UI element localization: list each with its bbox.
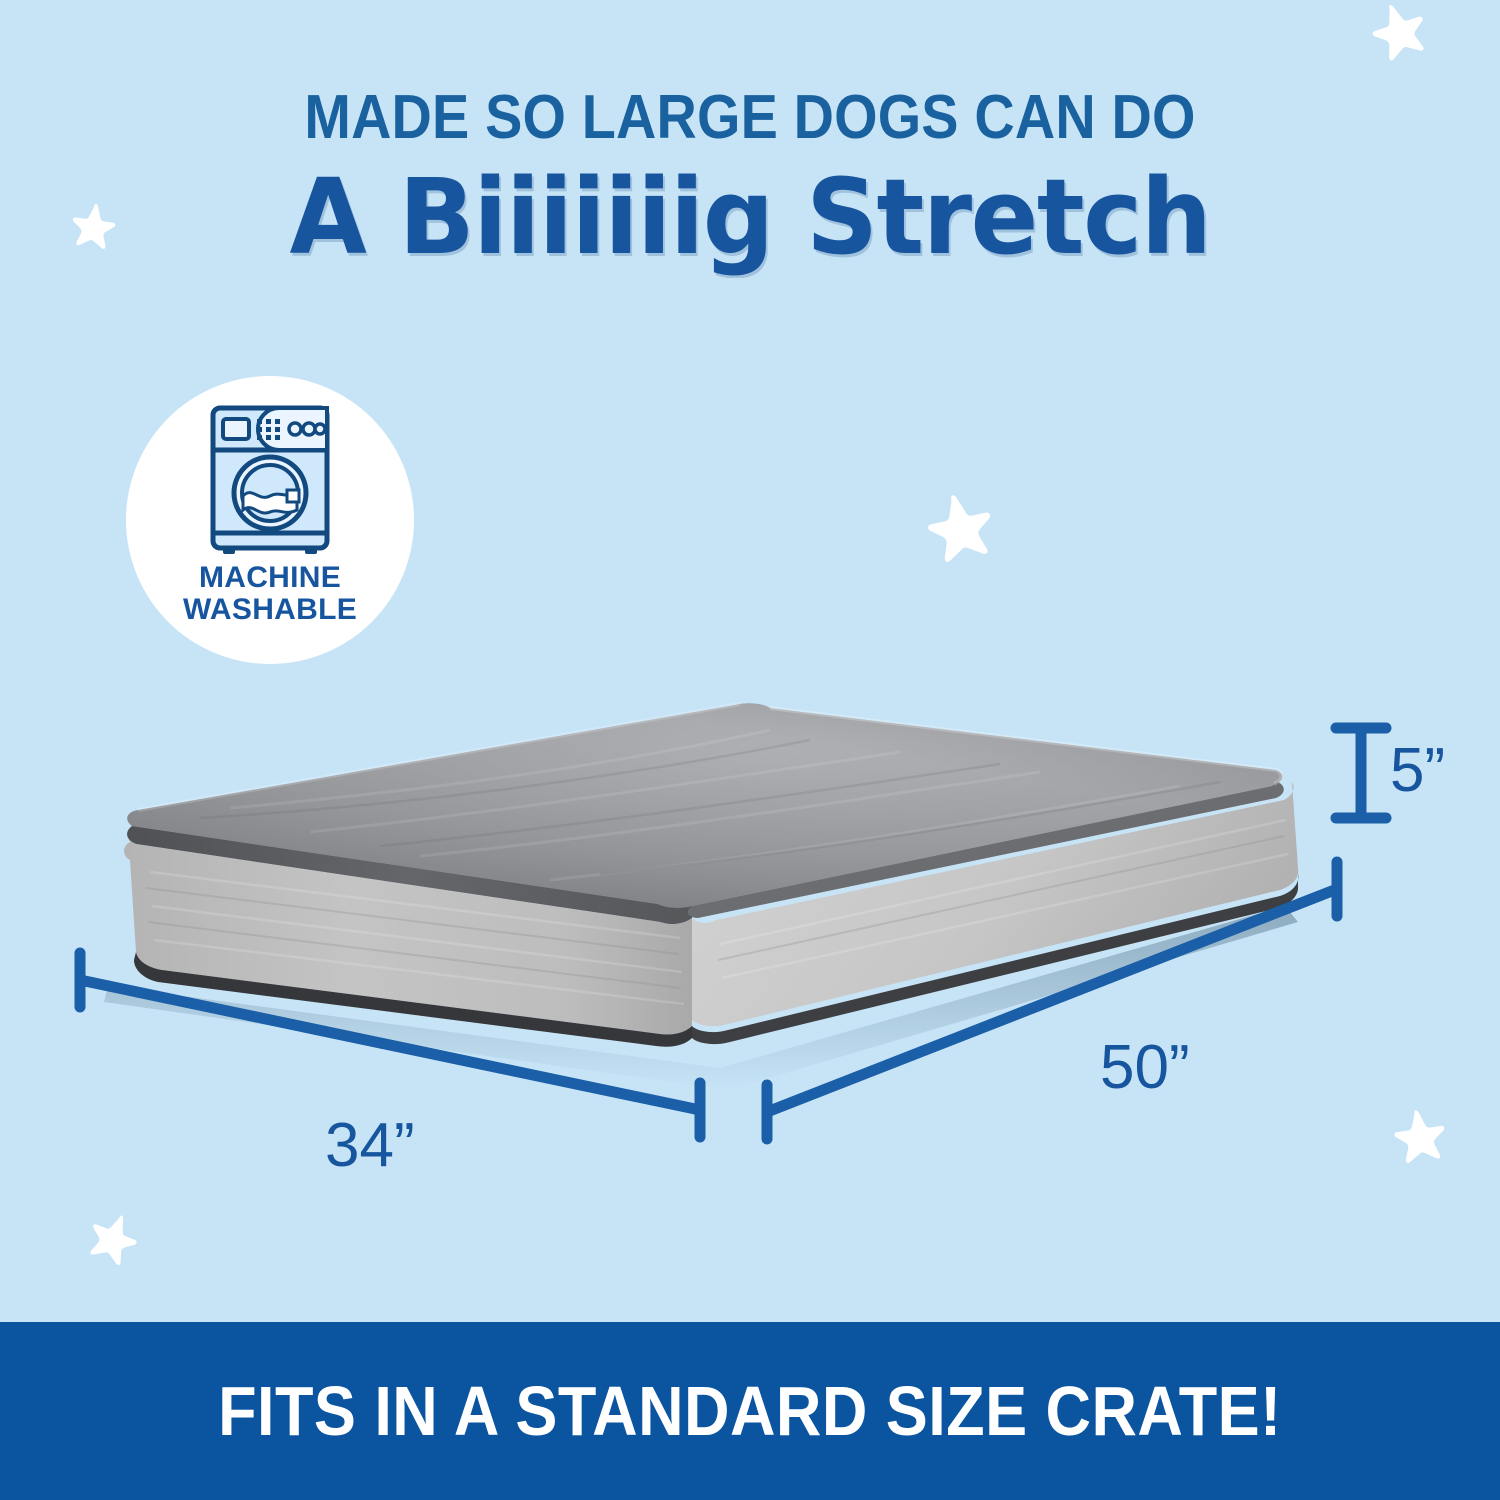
dimension-label-height: 5” [1390,735,1445,806]
headline-block: MADE SO LARGE DOGS CAN DO A Biiiiiiig St… [0,86,1500,269]
product-infographic: MADE SO LARGE DOGS CAN DO A Biiiiiiig St… [0,0,1500,1500]
bottom-banner: FITS IN A STANDARD SIZE CRATE! [0,1322,1500,1500]
star-center [919,486,1000,567]
star-top-right [1363,0,1434,65]
machine-washable-badge: MACHINE WASHABLE [126,376,414,664]
banner-text: FITS IN A STANDARD SIZE CRATE! [218,1371,1281,1451]
dimension-label-depth: 50” [1100,1032,1190,1103]
main-headline: A Biiiiiiig Stretch [30,165,1470,269]
dimension-label-width: 34” [325,1110,415,1181]
star-bottom-left [80,1204,145,1269]
machine-washable-label: MACHINE WASHABLE [183,562,357,626]
washing-machine-icon [207,402,333,554]
eyebrow-headline: MADE SO LARGE DOGS CAN DO [75,86,1425,149]
star-bottom-right [1389,1105,1450,1166]
